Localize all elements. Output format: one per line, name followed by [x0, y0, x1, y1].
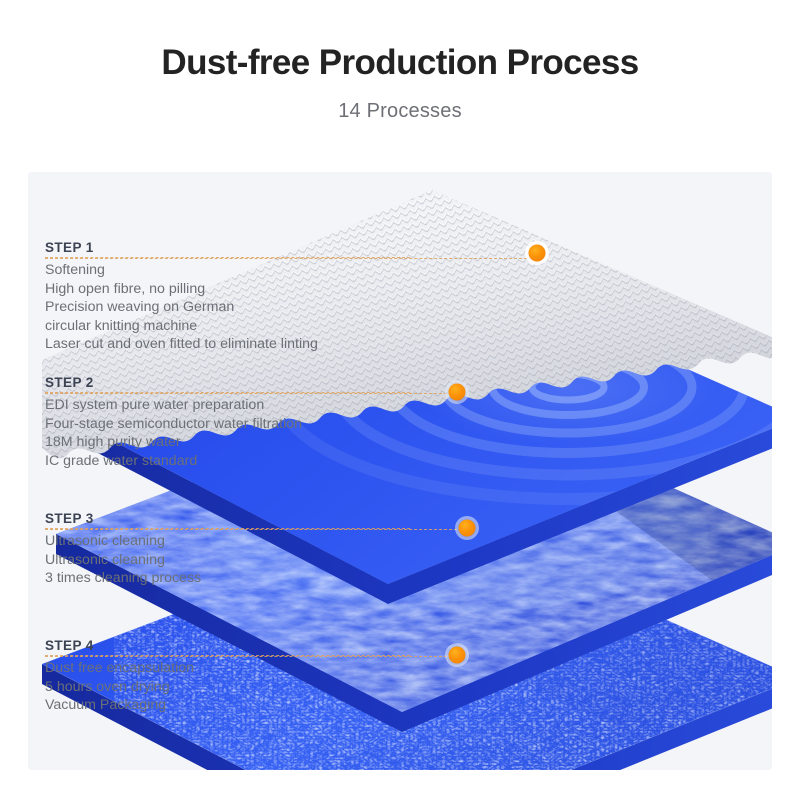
- infographic-page: Dust-free Production Process 14 Processe…: [0, 0, 800, 800]
- step-block-4: STEP 4 Dust free encapsulation 5 hours o…: [45, 638, 410, 715]
- orange-dot-marker-step-1: [529, 245, 546, 262]
- step-rule-1: [45, 257, 410, 258]
- page-title: Dust-free Production Process: [0, 44, 800, 83]
- step-line: Dust free encapsulation: [45, 659, 410, 678]
- step-line: Ultrasonic cleaning: [45, 532, 410, 551]
- step-line: 18M high purity water: [45, 433, 410, 452]
- step-line: EDI system pure water preparation: [45, 396, 410, 415]
- step-line: 5 hours oven drying: [45, 678, 410, 697]
- step-rule-2: [45, 392, 410, 393]
- step-lines-3: Ultrasonic cleaning Ultrasonic cleaning …: [45, 532, 410, 588]
- step-line: Vacuum Packaging: [45, 696, 410, 715]
- orange-dot-marker-step-4: [449, 647, 466, 664]
- step-line: High open fibre, no pilling: [45, 280, 410, 299]
- orange-dot-marker-step-2: [449, 384, 466, 401]
- page-subtitle: 14 Processes: [0, 100, 800, 123]
- step-label-1: STEP 1: [45, 240, 410, 257]
- step-line: Laser cut and oven fitted to eliminate l…: [45, 335, 410, 354]
- step-label-4: STEP 4: [45, 638, 410, 655]
- step-rule-4: [45, 655, 410, 656]
- step-label-2: STEP 2: [45, 375, 410, 392]
- step-lines-4: Dust free encapsulation 5 hours oven dry…: [45, 659, 410, 715]
- step-label-3: STEP 3: [45, 511, 410, 528]
- step-lines-2: EDI system pure water preparation Four-s…: [45, 396, 410, 470]
- step-line: 3 times cleaning process: [45, 569, 410, 588]
- step-block-3: STEP 3 Ultrasonic cleaning Ultrasonic cl…: [45, 511, 410, 588]
- orange-dot-marker-step-3: [459, 520, 476, 537]
- header: Dust-free Production Process 14 Processe…: [0, 0, 800, 123]
- step-line: Ultrasonic cleaning: [45, 551, 410, 570]
- step-lines-1: Softening High open fibre, no pilling Pr…: [45, 261, 410, 354]
- step-rule-3: [45, 528, 410, 529]
- step-line: IC grade water standard: [45, 452, 410, 471]
- step-line: Precision weaving on German: [45, 298, 410, 317]
- step-line: circular knitting machine: [45, 317, 410, 336]
- step-block-1: STEP 1 Softening High open fibre, no pil…: [45, 240, 410, 354]
- step-block-2: STEP 2 EDI system pure water preparation…: [45, 375, 410, 470]
- step-line: Four-stage semiconductor water filtratio…: [45, 415, 410, 434]
- step-line: Softening: [45, 261, 410, 280]
